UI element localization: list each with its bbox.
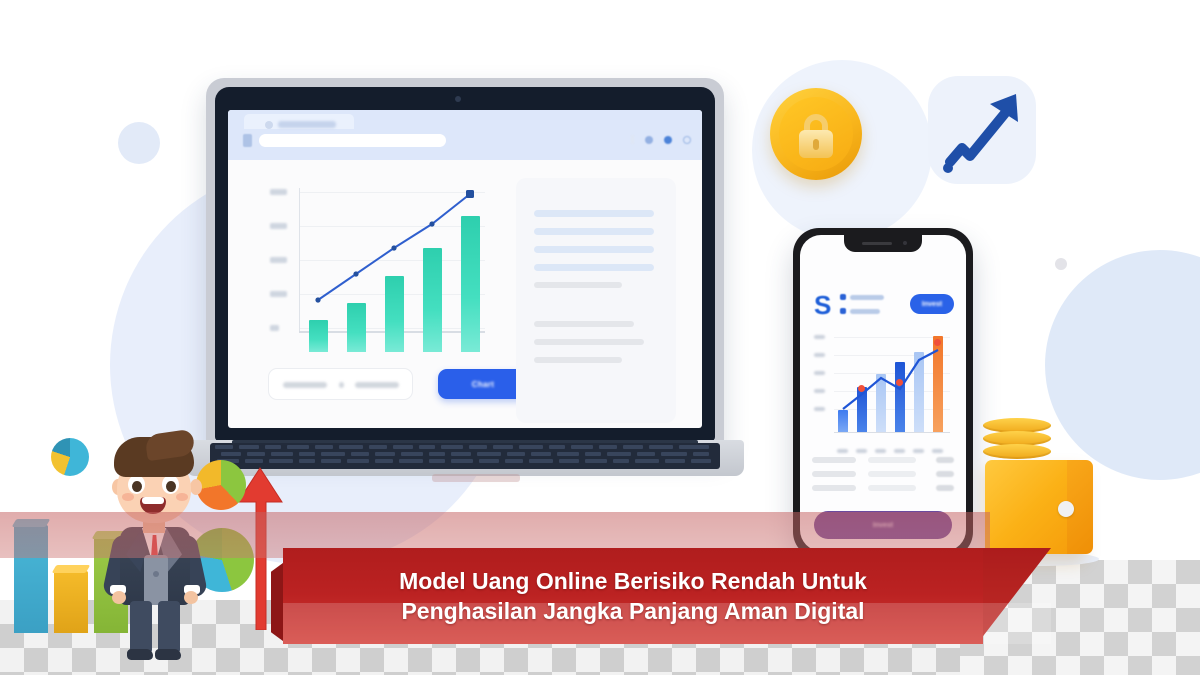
phone-x-tick bbox=[894, 449, 905, 453]
phone-chart-trend-line bbox=[812, 333, 954, 441]
phone-x-tick bbox=[913, 449, 924, 453]
background-dot bbox=[1055, 258, 1067, 270]
refresh-icon[interactable] bbox=[683, 136, 691, 144]
page-title: Model Uang Online Berisiko Rendah Untuk … bbox=[283, 548, 983, 644]
phone-x-tick bbox=[875, 449, 886, 453]
eye-right bbox=[162, 475, 179, 494]
profile-icon[interactable] bbox=[645, 136, 653, 144]
row-label bbox=[812, 471, 856, 477]
brand-line-2 bbox=[850, 309, 880, 314]
phone-screen: S Invest bbox=[800, 235, 966, 551]
eye-left bbox=[128, 475, 145, 494]
tab-title bbox=[278, 121, 336, 128]
account-icon[interactable] bbox=[664, 136, 672, 144]
hand-right bbox=[184, 591, 198, 604]
pupil-right bbox=[166, 481, 176, 492]
vest-button bbox=[153, 571, 159, 577]
leg-right bbox=[158, 601, 180, 653]
laptop-trackpad[interactable] bbox=[432, 474, 520, 482]
skeleton-line bbox=[534, 321, 634, 327]
browser-url-input[interactable] bbox=[259, 134, 446, 147]
title-line-2: Penghasilan Jangka Panjang Aman Digital bbox=[401, 598, 864, 624]
skeleton-line bbox=[534, 264, 654, 271]
phone-device: S Invest bbox=[793, 228, 973, 558]
ribbon-tail bbox=[977, 548, 1051, 644]
brand-line-1 bbox=[850, 295, 884, 300]
row-sublabel bbox=[868, 485, 916, 491]
input-separator bbox=[339, 382, 344, 388]
laptop-submit-label: Chart bbox=[472, 380, 494, 389]
y-tick-label bbox=[270, 325, 279, 331]
phone-brand-logo: S bbox=[814, 290, 831, 321]
phone-chart-marker bbox=[934, 339, 941, 346]
cheek-right bbox=[176, 493, 188, 501]
bar-chart-bar bbox=[54, 571, 88, 633]
background-blob-small bbox=[118, 122, 160, 164]
browser-action-icons bbox=[631, 135, 691, 144]
y-tick-label bbox=[270, 189, 287, 195]
list-item[interactable] bbox=[812, 471, 954, 478]
y-tick-label bbox=[270, 291, 287, 297]
pupil-left bbox=[132, 481, 142, 492]
list-item[interactable] bbox=[812, 485, 954, 492]
wallet-button bbox=[1058, 501, 1074, 517]
laptop-device: Chart bbox=[206, 78, 724, 450]
row-value bbox=[936, 485, 954, 491]
laptop-bar-chart bbox=[270, 188, 485, 353]
scene: Chart bbox=[0, 0, 1200, 675]
phone-action-button[interactable]: Invest bbox=[910, 294, 954, 314]
phone-action-label: Invest bbox=[922, 301, 942, 308]
laptop-screen: Chart bbox=[228, 110, 702, 428]
phone-chart-marker bbox=[858, 385, 865, 392]
list-item[interactable] bbox=[812, 457, 954, 464]
cheek-left bbox=[122, 493, 134, 501]
brand-bullet-icon bbox=[840, 308, 846, 314]
laptop-submit-button[interactable]: Chart bbox=[438, 369, 528, 399]
coin bbox=[983, 444, 1051, 459]
teeth bbox=[142, 497, 164, 504]
skeleton-line bbox=[534, 210, 654, 217]
phone-notch bbox=[844, 235, 922, 252]
browser-tab[interactable] bbox=[244, 114, 354, 129]
vest bbox=[144, 555, 168, 605]
laptop-form-row: Chart bbox=[268, 368, 528, 400]
skeleton-line bbox=[534, 339, 644, 345]
pie-chart-small bbox=[51, 438, 89, 476]
growth-arrow-icon bbox=[928, 76, 1036, 184]
lock-keyhole bbox=[813, 139, 819, 150]
browser-menu-icon[interactable] bbox=[243, 134, 252, 147]
skeleton-line bbox=[534, 282, 622, 288]
chart-trend-line bbox=[299, 188, 485, 332]
row-value bbox=[936, 457, 954, 463]
input-label-left bbox=[283, 382, 327, 388]
title-line-1: Model Uang Online Berisiko Rendah Untuk bbox=[399, 568, 867, 594]
coin-lock-icon bbox=[770, 88, 862, 180]
y-tick-label bbox=[270, 223, 287, 229]
row-label bbox=[812, 457, 856, 463]
shoe-left bbox=[127, 649, 153, 660]
browser-chrome bbox=[228, 110, 702, 160]
row-label bbox=[812, 485, 856, 491]
phone-x-tick bbox=[856, 449, 867, 453]
skeleton-line bbox=[534, 228, 654, 235]
wallet-icon bbox=[985, 432, 1093, 554]
more-icon[interactable] bbox=[631, 135, 634, 144]
laptop-range-input[interactable] bbox=[268, 368, 413, 400]
phone-front-camera-icon bbox=[903, 241, 907, 245]
laptop-webcam bbox=[455, 96, 461, 102]
title-ribbon: Model Uang Online Berisiko Rendah Untuk … bbox=[283, 548, 1051, 644]
phone-speaker bbox=[862, 242, 892, 245]
shoe-right bbox=[155, 649, 181, 660]
brand-bullet-icon bbox=[840, 294, 846, 300]
phone-chart-marker bbox=[896, 379, 903, 386]
tab-favicon-icon bbox=[265, 121, 273, 129]
phone-x-tick bbox=[837, 449, 848, 453]
skeleton-line bbox=[534, 246, 654, 253]
phone-bar-chart bbox=[812, 333, 954, 441]
row-sublabel bbox=[868, 457, 916, 463]
leg-left bbox=[130, 601, 152, 653]
input-label-right bbox=[355, 382, 399, 388]
laptop-content-panel bbox=[516, 178, 676, 423]
row-value bbox=[936, 471, 954, 477]
hand-left bbox=[112, 591, 126, 604]
phone-x-tick bbox=[932, 449, 943, 453]
row-sublabel bbox=[868, 471, 916, 477]
ear-right bbox=[190, 479, 202, 495]
y-tick-label bbox=[270, 257, 287, 263]
skeleton-line bbox=[534, 357, 622, 363]
